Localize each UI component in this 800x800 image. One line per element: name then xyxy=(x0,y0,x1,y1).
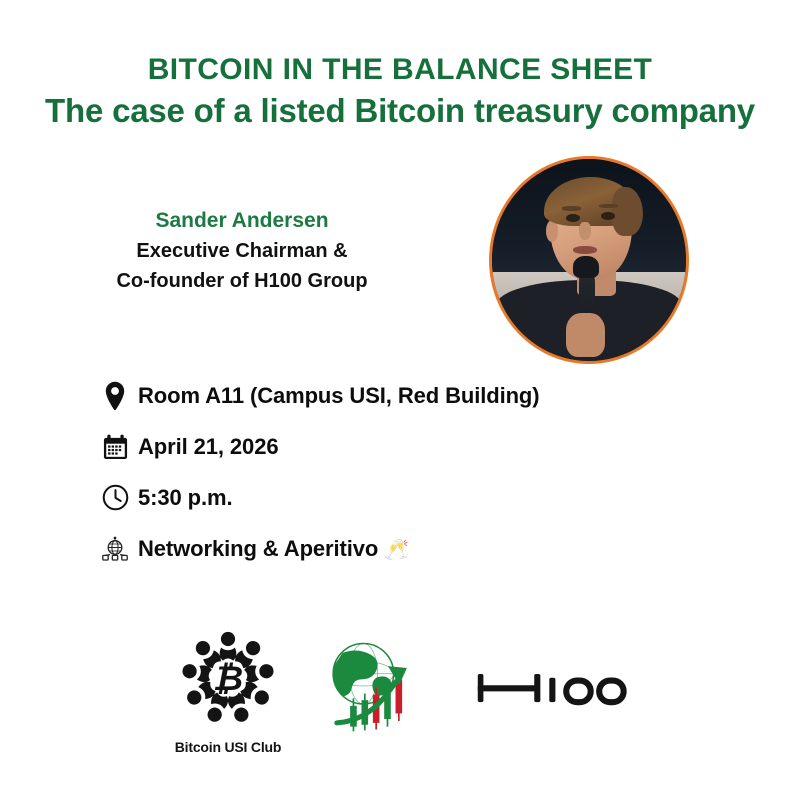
poster-title-line-2: The case of a listed Bitcoin treasury co… xyxy=(0,91,800,131)
calendar-icon xyxy=(98,430,132,464)
sponsor-logo-row: ₿ Bitcoin USI Club xyxy=(0,626,800,766)
speaker-block: Sander Andersen Executive Chairman & Co-… xyxy=(42,208,442,296)
network-icon xyxy=(98,532,132,566)
svg-text:₿: ₿ xyxy=(213,660,243,698)
detail-text-location: Room A11 (Campus USI, Red Building) xyxy=(138,383,540,409)
speaker-name: Sander Andersen xyxy=(42,208,442,235)
speaker-role-line-2: Co-founder of H100 Group xyxy=(42,267,442,295)
clock-icon xyxy=(98,481,132,515)
detail-row-location: Room A11 (Campus USI, Red Building) xyxy=(98,371,718,420)
event-details-list: Room A11 (Campus USI, Red Building) xyxy=(98,371,718,575)
bitcoin-usi-club-caption: Bitcoin USI Club xyxy=(158,739,298,755)
detail-text-time: 5:30 p.m. xyxy=(138,485,232,511)
trading-globe-logo xyxy=(318,634,422,743)
champagne-glasses-emoji: 🥂 xyxy=(384,539,409,561)
detail-row-time: 5:30 p.m. xyxy=(98,473,718,522)
portrait-illustration xyxy=(492,159,686,361)
speaker-portrait xyxy=(489,156,689,364)
speaker-role-line-1: Executive Chairman & xyxy=(42,237,442,265)
detail-text-networking-label: Networking & Aperitivo xyxy=(138,536,378,561)
poster-title-block: BITCOIN IN THE BALANCE SHEET The case of… xyxy=(0,52,800,132)
event-poster: BITCOIN IN THE BALANCE SHEET The case of… xyxy=(0,0,800,800)
detail-text-networking: Networking & Aperitivo 🥂 xyxy=(138,536,409,562)
location-pin-icon xyxy=(98,379,132,413)
detail-row-networking: Networking & Aperitivo 🥂 xyxy=(98,524,718,573)
poster-title-line-1: BITCOIN IN THE BALANCE SHEET xyxy=(0,52,800,87)
detail-text-date: April 21, 2026 xyxy=(138,434,278,460)
bitcoin-usi-club-logo: ₿ Bitcoin USI Club xyxy=(158,626,298,755)
h100-logo xyxy=(474,664,634,719)
detail-row-date: April 21, 2026 xyxy=(98,422,718,471)
